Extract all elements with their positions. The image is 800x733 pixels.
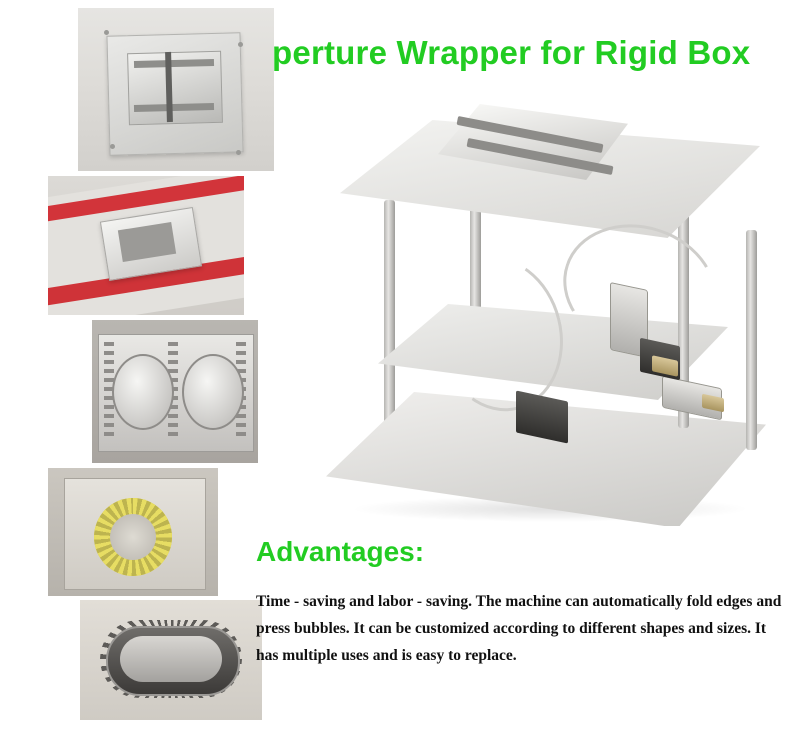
thumbnail-top-jig-plate (78, 8, 274, 171)
support-post (384, 200, 395, 430)
thumbnail-red-edge-box-jig (48, 176, 244, 315)
thumbnail-yellow-ring-in-box (48, 468, 218, 596)
machine-photo (310, 96, 800, 526)
page-title: Aperture Wrapper for Rigid Box (248, 36, 796, 71)
support-post (746, 230, 757, 450)
thumbnail-dual-oval-mold (92, 320, 258, 463)
thumbnail-oval-blade-tool (80, 600, 262, 720)
advantages-body: Time - saving and labor - saving. The ma… (256, 588, 786, 669)
advantages-heading: Advantages: (256, 536, 424, 568)
